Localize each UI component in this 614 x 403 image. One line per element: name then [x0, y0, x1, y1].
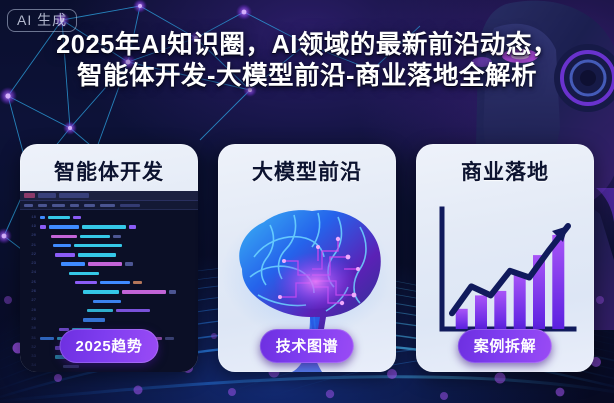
- feature-card-agent-development[interactable]: 智能体开发 18 19 20 21 22 23 24 25 26: [20, 144, 198, 372]
- feature-card-list: 智能体开发 18 19 20 21 22 23 24 25 26: [0, 144, 614, 374]
- page-title: 2025年AI知识圈，AI领域的最新前沿动态， 智能体开发-大模型前沿-商业落地…: [0, 30, 614, 92]
- card-title: 商业落地: [461, 156, 549, 186]
- chart-bar: [456, 309, 468, 329]
- card-badge[interactable]: 2025趋势: [60, 329, 159, 363]
- feature-card-llm-frontier[interactable]: 大模型前沿: [218, 144, 396, 372]
- chart-bar: [494, 291, 506, 329]
- title-line-2: 智能体开发-大模型前沿-商业落地全解析: [18, 61, 596, 92]
- chart-bar: [552, 235, 564, 329]
- feature-card-business-landing[interactable]: 商业落地 案例: [416, 144, 594, 372]
- card-badge[interactable]: 技术图谱: [260, 329, 354, 363]
- card-title: 大模型前沿: [252, 156, 362, 186]
- card-badge[interactable]: 案例拆解: [458, 329, 552, 363]
- ai-generated-badge: AI 生成: [7, 9, 77, 32]
- chart-bar: [514, 273, 526, 329]
- chart-bar: [475, 295, 487, 329]
- card-title: 智能体开发: [54, 156, 164, 186]
- title-line-1: 2025年AI知识圈，AI领域的最新前沿动态，: [56, 31, 558, 59]
- poster-canvas: AI 生成 2025年AI知识圈，AI领域的最新前沿动态， 智能体开发-大模型前…: [0, 0, 614, 403]
